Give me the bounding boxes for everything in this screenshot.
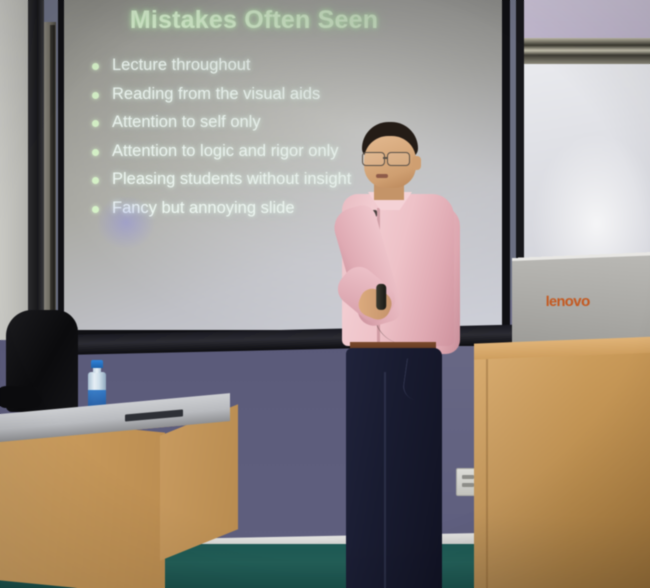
teacher-desk-front [0,415,165,588]
door-frame [28,0,44,350]
right-lens [387,152,410,166]
presenter [320,122,480,588]
office-chair-armrest [0,386,42,408]
trouser-crease [384,372,386,588]
trouser-pocket [401,358,433,401]
whiteboard-upper-wall [524,0,650,38]
presenter-mouth [376,174,388,178]
list-item: Reading from the visual aids [90,85,502,104]
presenter-left-hand [355,285,395,323]
eyeglasses-icon [362,152,418,164]
bottle-cap [91,360,103,368]
lectern-shading [474,348,650,588]
door-gap [50,25,55,340]
left-lens [362,152,385,166]
lectern-panel-seam [486,348,488,588]
slide-title: Mistakes Often Seen [64,6,444,35]
list-item: Lecture throughout [90,56,502,75]
presenter-remote-icon[interactable] [376,284,386,310]
lenovo-logo: lenovo [546,292,590,309]
water-bottle[interactable] [87,360,107,408]
lecture-hall-photo: Mistakes Often Seen Lecture throughout R… [0,0,650,588]
whiteboard-marker-rail [524,38,650,64]
